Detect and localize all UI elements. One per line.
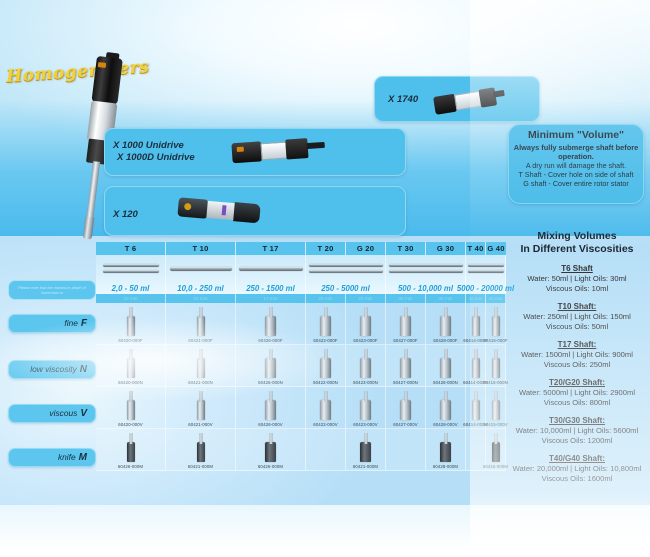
mixing-group-line: Water: 1500ml | Light Oils: 900ml	[505, 350, 649, 360]
product-cell[interactable]: 60420-000N	[96, 345, 166, 387]
diameter-t17: 17 mm	[236, 294, 306, 303]
part-number: 60428-000V	[433, 422, 457, 427]
table-row: 60420-000V 60421-000V 60426-000V 60422-0…	[96, 387, 506, 429]
mixing-group-line: Water: 10,000ml | Light Oils: 5600ml	[505, 426, 649, 436]
shaft-image-t6	[96, 255, 166, 282]
product-cell[interactable]: 60427-000F	[386, 303, 426, 345]
volume-range-t6: 2,0 - 50 ml	[96, 282, 166, 294]
diameter-t20: 20 mm	[306, 294, 346, 303]
part-number: 60415-000V	[483, 422, 507, 427]
volume-range-t20-g20: 250 - 5000 ml	[306, 282, 386, 294]
product-cell[interactable]: 60428-000F	[426, 303, 466, 345]
part-number: 60423-000N	[353, 380, 378, 385]
product-cell[interactable]: 60428-000M	[426, 429, 466, 471]
product-label-x1000: X 1000 Unidrive	[113, 140, 184, 152]
mixing-group-t10: T10 Shaft: Water: 250ml | Light Oils: 15…	[505, 301, 649, 332]
product-cell[interactable]: 60422-000F	[306, 303, 346, 345]
product-cell[interactable]: 60426-000M	[96, 429, 166, 471]
mixing-group-line: Water: 250ml | Light Oils: 150ml	[505, 312, 649, 322]
row-label-code: M	[79, 452, 87, 463]
column-header-t17[interactable]: T 17	[236, 242, 306, 255]
product-cell[interactable]: 60426-000F	[236, 303, 306, 345]
product-label-x120: X 120	[113, 209, 138, 221]
product-cell[interactable]: 60415-000F	[486, 303, 506, 345]
column-header-g40[interactable]: G 40	[486, 242, 506, 255]
diameter-t6: 10 mm	[96, 294, 166, 303]
product-cell[interactable]: 60422-000V	[306, 387, 346, 429]
minimum-volume-line-1: A dry run will damage the shaft.	[513, 161, 639, 170]
part-number: 60415-000M	[483, 464, 508, 469]
column-header-t20[interactable]: T 20	[306, 242, 346, 255]
part-number: 60423-000V	[353, 422, 377, 427]
part-number: 60415-000F	[483, 338, 507, 343]
part-number: 60428-000F	[433, 338, 457, 343]
part-number: 60422-000V	[313, 422, 337, 427]
product-cell[interactable]: 60423-000V	[346, 387, 386, 429]
part-number: 60426-000M	[258, 464, 283, 469]
shaft-image-t10	[166, 255, 236, 282]
row-label-fine[interactable]: fineF	[8, 314, 96, 333]
diameter-t40: 40 mm	[466, 294, 486, 303]
product-cell[interactable]: 60421-000N	[166, 345, 236, 387]
part-number: 60428-000M	[433, 464, 458, 469]
shaft-image-t17	[236, 255, 306, 282]
part-number: 60422-000N	[313, 380, 338, 385]
table-row: 60426-000M 60421-000M 60426-000M 60421-0…	[96, 429, 506, 471]
mixing-group-title: T40/G40 Shaft:	[505, 453, 649, 464]
mixing-group-t20-g20: T20/G20 Shaft: Water: 5000ml | Light Oil…	[505, 377, 649, 408]
minimum-volume-line-3: G shaft - Cover entire rotor stator	[513, 179, 639, 188]
product-cell-empty	[306, 429, 346, 471]
product-cell[interactable]: 60422-000N	[306, 345, 346, 387]
diameter-t30: 30 mm	[386, 294, 426, 303]
part-number: 60421-000M	[188, 464, 213, 469]
product-cell[interactable]: 60415-000N	[486, 345, 506, 387]
product-cell[interactable]: 60426-000N	[236, 345, 306, 387]
minimum-volume-line-2: T Shaft - Cover hole on side of shaft	[513, 170, 639, 179]
part-number: 60420-000F	[118, 338, 142, 343]
shaft-image-t20-g20	[306, 255, 386, 282]
part-number: 60426-000V	[258, 422, 282, 427]
mixing-group-line: Water: 20,000ml | Light Oils: 10,800ml	[505, 464, 649, 474]
minimum-volume-bold-line: Always fully submerge shaft before opera…	[513, 143, 639, 161]
row-label-text: low viscosity	[30, 364, 77, 374]
catalog-page: Homogenizers X 1740 X 1000 Unidrive X 10…	[0, 0, 650, 557]
product-cell[interactable]: 60426-000M	[236, 429, 306, 471]
mixing-group-t40-g40: T40/G40 Shaft: Water: 20,000ml | Light O…	[505, 453, 649, 484]
diameter-g20: 22 mm	[346, 294, 386, 303]
product-cell[interactable]: 60428-000V	[426, 387, 466, 429]
product-cell[interactable]: 60421-000F	[166, 303, 236, 345]
product-label-x1000d: X 1000D Unidrive	[117, 152, 195, 164]
background-bottom	[0, 505, 650, 557]
part-number: 60427-000F	[393, 338, 417, 343]
product-cell[interactable]: 60423-000N	[346, 345, 386, 387]
row-label-text: viscous	[49, 408, 77, 418]
product-cell[interactable]: 60415-000V	[486, 387, 506, 429]
row-label-viscous[interactable]: viscousV	[8, 404, 96, 423]
mixing-group-line: Water: 50ml | Light Oils: 30ml	[505, 274, 649, 284]
part-number: 60422-000F	[313, 338, 337, 343]
part-number: 60423-000F	[353, 338, 377, 343]
row-label-code: N	[80, 364, 87, 375]
part-number: 60426-000M	[118, 464, 143, 469]
product-cell-empty	[386, 429, 426, 471]
part-number: 60421-000F	[188, 338, 212, 343]
volume-range-t30-g30: 500 - 10,000 ml	[386, 282, 466, 294]
table-diameter-row: 10 mm 10 mm 17 mm 20 mm 22 mm 30 mm 30 m…	[96, 294, 506, 303]
product-cell[interactable]: 60421-000V	[166, 387, 236, 429]
product-cell[interactable]: 60421-000M	[166, 429, 236, 471]
column-header-t6[interactable]: T 6	[96, 242, 166, 255]
column-header-g30[interactable]: G 30	[426, 242, 466, 255]
column-header-g20[interactable]: G 20	[346, 242, 386, 255]
mixing-group-t17: T17 Shaft: Water: 1500ml | Light Oils: 9…	[505, 339, 649, 370]
mixing-heading-line-1: Mixing Volumes	[505, 230, 649, 243]
mixing-group-t6: T6 Shaft Water: 50ml | Light Oils: 30ml …	[505, 263, 649, 294]
part-number: 60421-000V	[188, 422, 212, 427]
part-number: 60420-000V	[118, 422, 142, 427]
row-label-code: F	[81, 318, 87, 329]
minimum-volume-heading: Minimum "Volume"	[513, 129, 639, 142]
diameter-t10: 10 mm	[166, 294, 236, 303]
row-label-knife[interactable]: knifeM	[8, 448, 96, 467]
mixing-group-title: T30/G30 Shaft:	[505, 415, 649, 426]
table-row: 60420-000N 60421-000N 60426-000N 60422-0…	[96, 345, 506, 387]
part-number: 60427-000V	[393, 422, 417, 427]
product-cell[interactable]: 60427-000V	[386, 387, 426, 429]
mixing-group-line: Viscous Oils: 800ml	[505, 398, 649, 408]
mixing-group-line: Water: 5000ml | Light Oils: 2900ml	[505, 388, 649, 398]
mixing-group-title: T20/G20 Shaft:	[505, 377, 649, 388]
part-number: 60426-000N	[258, 380, 283, 385]
mixing-group-t30-g30: T30/G30 Shaft: Water: 10,000ml | Light O…	[505, 415, 649, 446]
diameter-g30: 30 mm	[426, 294, 466, 303]
part-number: 60426-000F	[258, 338, 282, 343]
product-label-x1740: X 1740	[388, 94, 418, 106]
column-header-t40[interactable]: T 40	[466, 242, 486, 255]
part-number: 60428-000N	[433, 380, 458, 385]
column-header-t10[interactable]: T 10	[166, 242, 236, 255]
row-label-low-viscosity[interactable]: low viscosityN	[8, 360, 96, 379]
table-shaft-image-row	[96, 255, 506, 282]
table-row: 60420-000F 60421-000F 60426-000F 60422-0…	[96, 303, 506, 345]
diameter-g40: 40 mm	[486, 294, 506, 303]
shaft-image-t30-g30	[386, 255, 466, 282]
product-cell[interactable]: 60423-000F	[346, 303, 386, 345]
product-cell[interactable]: 60420-000V	[96, 387, 166, 429]
product-cell[interactable]: 60426-000V	[236, 387, 306, 429]
mixing-heading-line-2: In Different Viscosities	[505, 243, 649, 256]
product-cell[interactable]: 60427-000N	[386, 345, 426, 387]
mixing-group-line: Viscous Oils: 10ml	[505, 284, 649, 294]
mixing-group-title: T6 Shaft	[505, 263, 649, 274]
mixing-group-line: Viscous Oils: 250ml	[505, 360, 649, 370]
product-cell[interactable]: 60421-000M	[346, 429, 386, 471]
row-label-text: knife	[58, 452, 76, 462]
part-number: 60421-000M	[353, 464, 378, 469]
part-number: 60415-000N	[483, 380, 508, 385]
column-header-t30[interactable]: T 30	[386, 242, 426, 255]
shaft-image-t40-g40	[466, 255, 506, 282]
product-cell[interactable]: 60415-000M	[486, 429, 506, 471]
table-header-row: T 6 T 10 T 17 T 20 G 20 T 30 G 30 T 40 G…	[96, 242, 506, 255]
volume-range-t10: 10,0 - 250 ml	[166, 282, 236, 294]
product-cell[interactable]: 60420-000F	[96, 303, 166, 345]
mixing-group-title: T10 Shaft:	[505, 301, 649, 312]
mixing-group-line: Viscous Oils: 1600ml	[505, 474, 649, 484]
mixing-group-line: Viscous Oils: 50ml	[505, 322, 649, 332]
immersion-depth-note: Please note that the maximum depth of im…	[8, 280, 96, 300]
shaft-selection-table: T 6 T 10 T 17 T 20 G 20 T 30 G 30 T 40 G…	[96, 242, 506, 471]
volume-range-t17: 250 - 1500 ml	[236, 282, 306, 294]
table-volume-range-row: 2,0 - 50 ml 10,0 - 250 ml 250 - 1500 ml …	[96, 282, 506, 294]
row-label-code: V	[80, 408, 87, 419]
mixing-group-line: Viscous Oils: 1200ml	[505, 436, 649, 446]
product-cell[interactable]: 60428-000N	[426, 345, 466, 387]
part-number: 60427-000N	[393, 380, 418, 385]
part-number: 60420-000N	[118, 380, 143, 385]
volume-range-t40-g40: 5000 - 20000 ml	[466, 282, 506, 294]
mixing-volumes-panel: Mixing Volumes In Different Viscosities …	[505, 230, 649, 484]
row-label-text: fine	[64, 318, 78, 328]
minimum-volume-box: Minimum "Volume" Always fully submerge s…	[508, 124, 644, 204]
part-number: 60421-000N	[188, 380, 213, 385]
mixing-group-title: T17 Shaft:	[505, 339, 649, 350]
